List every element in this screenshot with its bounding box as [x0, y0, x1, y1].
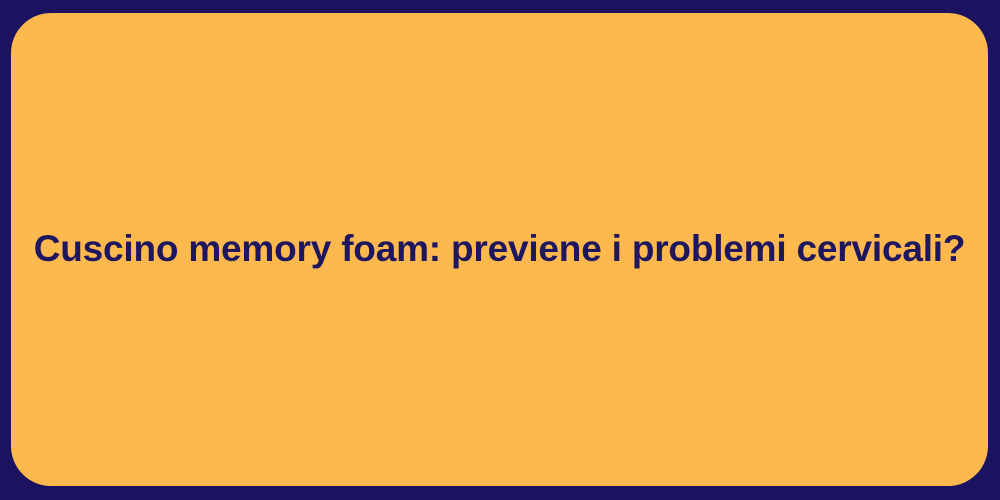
- banner-title: Cuscino memory foam: previene i problemi…: [34, 226, 966, 272]
- banner-frame: Cuscino memory foam: previene i problemi…: [0, 0, 1000, 500]
- banner-card: Cuscino memory foam: previene i problemi…: [11, 13, 988, 486]
